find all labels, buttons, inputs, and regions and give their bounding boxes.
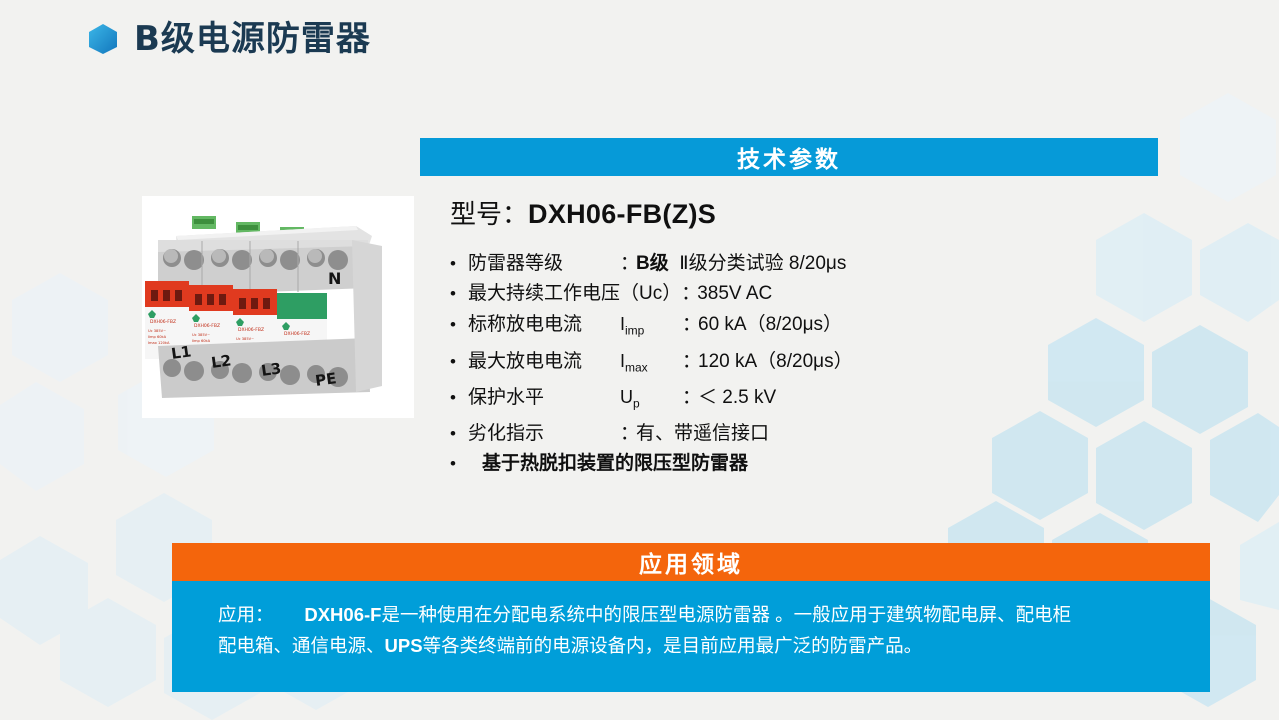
application-line-1-rest: 是一种使用在分配电系统中的限压型电源防雷器 。一般应用于建筑物配电屏、配电柜: [381, 604, 1071, 625]
spec-symbol-main: U: [620, 387, 633, 407]
application-banner-label: 应用领域: [639, 545, 743, 579]
spec-value: ＜ 2.5 kV: [698, 383, 776, 413]
spec-symbol-sub: p: [633, 397, 640, 411]
model-line: 型号：DXH06-FB(Z)S: [450, 198, 1150, 231]
spec-label: 防雷器等级: [468, 249, 620, 279]
application-body: 应用： DXH06-F是一种使用在分配电系统中的限压型电源防雷器 。一般应用于建…: [172, 581, 1210, 692]
tech-params-banner-label: 技术参数: [737, 140, 841, 174]
application-line-2: 配电箱、通信电源、UPS等各类终端前的电源设备内，是目前应用最广泛的防雷产品。: [218, 630, 1186, 661]
spec-colon: ：: [682, 347, 698, 377]
spec-colon: ：: [620, 249, 636, 279]
spec-label: 保护水平: [468, 383, 620, 413]
spec-label: 劣化指示: [468, 419, 620, 449]
spec-row-uc: • 最大持续工作电压（Uc） ： 385V AC: [450, 279, 1150, 309]
bullet-icon: •: [450, 279, 468, 309]
application-line-2-a: 配电箱、通信电源、: [218, 635, 385, 656]
application-banner: 应用领域: [172, 543, 1210, 581]
spec-symbol-sub: max: [625, 360, 648, 374]
spec-symbol: Up: [620, 382, 682, 419]
spec-value: 60 kA（8/20μs）: [698, 310, 842, 340]
product-image-card: N DXH06-FBZ DXH06-FBZ DXH06-FBZ DXH06-FB…: [142, 196, 414, 418]
bullet-icon: •: [450, 310, 468, 340]
spec-colon: ：: [620, 419, 636, 449]
spec-colon: ：: [682, 310, 698, 340]
svg-text:Uc 385V~: Uc 385V~: [192, 333, 210, 337]
spec-colon: ：: [681, 279, 697, 309]
svg-text:Iimp 60kA: Iimp 60kA: [192, 339, 211, 343]
svg-text:L1: L1: [170, 342, 192, 363]
spec-row-up: • 保护水平 Up ： ＜ 2.5 kV: [450, 382, 1150, 419]
spec-value: 385V AC: [697, 279, 772, 309]
spec-row-indicator: • 劣化指示 ： 有、带遥信接口: [450, 419, 1150, 449]
spec-label: 最大放电电流: [468, 347, 620, 377]
spec-symbol: Imax: [620, 346, 682, 383]
svg-text:Imax 120kA: Imax 120kA: [148, 341, 170, 345]
spec-row-grade: • 防雷器等级 ： B级 Ⅱ级分类试验 8/20μs: [450, 249, 1150, 279]
svg-text:L3: L3: [260, 359, 282, 380]
spec-value-rest: Ⅱ级分类试验 8/20μs: [679, 253, 846, 274]
page-title: B级电源防雷器: [134, 22, 371, 56]
page-header: B级电源防雷器: [88, 22, 371, 56]
spec-row-iimp: • 标称放电电流 Iimp ： 60 kA（8/20μs）: [450, 309, 1150, 346]
spec-value: 120 kA（8/20μs）: [698, 347, 853, 377]
svg-text:L2: L2: [210, 351, 232, 372]
bullet-icon: •: [450, 249, 468, 279]
bullet-icon: •: [450, 347, 468, 377]
bullet-icon: •: [450, 449, 468, 479]
spec-label: 标称放电电流: [468, 310, 620, 340]
hexagon-icon: [88, 23, 118, 55]
tech-spec-panel: 型号：DXH06-FB(Z)S • 防雷器等级 ： B级 Ⅱ级分类试验 8/20…: [450, 198, 1150, 479]
application-line-2-b: 等各类终端前的电源设备内，是目前应用最广泛的防雷产品。: [423, 635, 923, 656]
svg-text:DXH06-FBZ: DXH06-FBZ: [150, 319, 176, 325]
spec-value: B级 Ⅱ级分类试验 8/20μs: [636, 249, 846, 279]
spec-symbol-sub: imp: [625, 324, 644, 338]
application-section: 应用领域 应用： DXH06-F是一种使用在分配电系统中的限压型电源防雷器 。一…: [172, 543, 1210, 692]
spec-row-imax: • 最大放电电流 Imax ： 120 kA（8/20μs）: [450, 346, 1150, 383]
spec-symbol: Iimp: [620, 309, 682, 346]
svg-text:N: N: [328, 269, 341, 288]
svg-text:PE: PE: [314, 369, 338, 390]
svg-text:DXH06-FBZ: DXH06-FBZ: [194, 323, 220, 329]
bullet-icon: •: [450, 383, 468, 413]
svg-text:Iimp 60kA: Iimp 60kA: [148, 335, 167, 339]
spec-value-bold: B级: [636, 253, 669, 274]
application-model: DXH06-F: [304, 604, 381, 625]
application-ups: UPS: [385, 635, 423, 656]
product-photo: N DXH06-FBZ DXH06-FBZ DXH06-FBZ DXH06-FB…: [142, 196, 414, 418]
application-line-1: 应用： DXH06-F是一种使用在分配电系统中的限压型电源防雷器 。一般应用于建…: [218, 599, 1186, 630]
spec-label: 基于热脱扣装置的限压型防雷器: [468, 449, 748, 479]
svg-text:Uc 385V~: Uc 385V~: [236, 337, 254, 341]
spec-row-summary: • 基于热脱扣装置的限压型防雷器: [450, 449, 1150, 479]
bullet-icon: •: [450, 419, 468, 449]
tech-params-banner: 技术参数: [420, 138, 1158, 176]
spec-colon: ：: [682, 383, 698, 413]
application-prefix: 应用：: [218, 604, 274, 625]
svg-text:Uc 385V~: Uc 385V~: [148, 329, 166, 333]
svg-text:DXH06-FBZ: DXH06-FBZ: [238, 327, 264, 333]
spec-value: 有、带遥信接口: [636, 419, 769, 449]
model-value: DXH06-FB(Z)S: [528, 199, 716, 229]
model-label: 型号：: [450, 200, 528, 230]
spec-list: • 防雷器等级 ： B级 Ⅱ级分类试验 8/20μs • 最大持续工作电压（Uc…: [450, 249, 1150, 479]
svg-text:DXH06-FBZ: DXH06-FBZ: [284, 331, 310, 337]
spec-label: 最大持续工作电压（Uc）: [468, 279, 681, 309]
